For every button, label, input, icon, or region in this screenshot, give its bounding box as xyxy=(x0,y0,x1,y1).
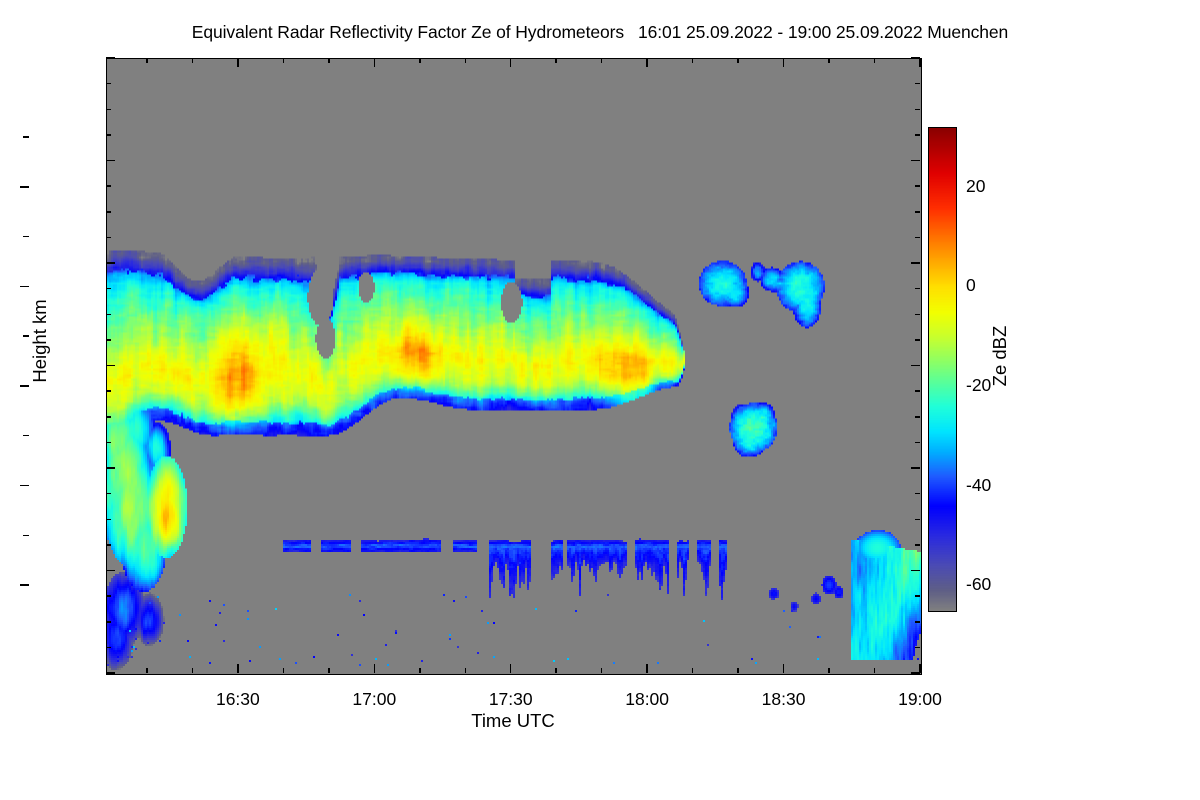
y-axis-title: Height km xyxy=(29,241,51,441)
y-tick-minor-right xyxy=(915,109,920,111)
y-tick-major-right xyxy=(911,570,920,572)
colorbar-tick-minor xyxy=(23,136,29,138)
x-tick-minor xyxy=(692,668,694,673)
y-tick-major-right xyxy=(911,365,920,367)
y-tick-minor-right xyxy=(915,390,920,392)
y-tick-major xyxy=(106,570,115,572)
y-tick-minor xyxy=(106,314,111,316)
y-tick-major-right xyxy=(911,262,920,264)
x-tick-major xyxy=(783,664,785,673)
y-tick-major xyxy=(106,160,115,162)
x-tick-major-top xyxy=(646,58,648,67)
y-tick-minor-right xyxy=(915,185,920,187)
x-tick-minor-top xyxy=(874,58,876,63)
y-tick-minor-right xyxy=(915,211,920,213)
colorbar-tick-major xyxy=(20,485,29,487)
x-tick-major-top xyxy=(919,58,921,67)
y-tick-minor xyxy=(106,647,111,649)
y-tick-major xyxy=(106,262,115,264)
x-tick-minor-top xyxy=(146,58,148,63)
x-tick-minor-top xyxy=(192,58,194,63)
colorbar-tick-major xyxy=(20,286,29,288)
y-tick-minor xyxy=(106,134,111,136)
y-tick-minor xyxy=(106,390,111,392)
x-tick-major xyxy=(510,664,512,673)
y-tick-major xyxy=(106,365,115,367)
x-tick-minor-top xyxy=(828,58,830,63)
y-tick-minor-right xyxy=(915,134,920,136)
x-tick-minor xyxy=(419,668,421,673)
x-tick-label: 19:00 xyxy=(860,689,980,710)
colorbar-tick-minor xyxy=(23,535,29,537)
x-tick-minor-top xyxy=(419,58,421,63)
x-tick-major xyxy=(646,664,648,673)
x-tick-label: 17:30 xyxy=(451,689,571,710)
y-tick-major-right xyxy=(911,467,920,469)
y-tick-minor xyxy=(106,83,111,85)
colorbar-gradient xyxy=(929,128,956,611)
y-tick-minor-right xyxy=(915,647,920,649)
x-tick-minor xyxy=(601,668,603,673)
y-tick-minor xyxy=(106,288,111,290)
x-tick-major-top xyxy=(237,58,239,67)
y-tick-minor xyxy=(106,544,111,546)
radar-reflectivity-heatmap xyxy=(107,59,921,674)
colorbar-tick-major xyxy=(20,385,29,387)
colorbar-tick-minor xyxy=(23,236,29,238)
title-main: Equivalent Radar Reflectivity Factor Ze … xyxy=(192,22,624,42)
x-tick-minor xyxy=(555,668,557,673)
y-tick-minor-right xyxy=(915,595,920,597)
x-tick-minor-top xyxy=(692,58,694,63)
y-tick-major xyxy=(106,467,115,469)
y-tick-major xyxy=(106,672,115,674)
y-tick-major xyxy=(106,57,115,59)
colorbar-tick-label: 20 xyxy=(966,176,985,197)
x-tick-label: 17:00 xyxy=(314,689,434,710)
colorbar-tick-minor xyxy=(23,435,29,437)
y-tick-minor xyxy=(106,339,111,341)
y-tick-minor-right xyxy=(915,621,920,623)
y-tick-minor-right xyxy=(915,519,920,521)
y-tick-minor-right xyxy=(915,339,920,341)
page-title: Equivalent Radar Reflectivity Factor Ze … xyxy=(0,22,1200,43)
colorbar-tick-major xyxy=(20,186,29,188)
y-tick-minor-right xyxy=(915,237,920,239)
x-tick-minor xyxy=(465,668,467,673)
x-tick-minor xyxy=(328,668,330,673)
colorbar-tick-major xyxy=(20,584,29,586)
x-tick-minor xyxy=(737,668,739,673)
x-tick-minor-top xyxy=(737,58,739,63)
y-tick-minor xyxy=(106,185,111,187)
x-tick-major-top xyxy=(510,58,512,67)
colorbar-tick-minor xyxy=(23,335,29,337)
y-tick-minor xyxy=(106,442,111,444)
y-tick-minor-right xyxy=(915,493,920,495)
y-tick-minor xyxy=(106,493,111,495)
x-tick-minor xyxy=(828,668,830,673)
x-tick-major xyxy=(237,664,239,673)
x-tick-minor xyxy=(283,668,285,673)
title-period: 16:01 25.09.2022 - 19:00 25.09.2022 Muen… xyxy=(638,22,1008,42)
y-tick-minor xyxy=(106,237,111,239)
y-tick-minor xyxy=(106,621,111,623)
colorbar xyxy=(928,127,957,612)
colorbar-tick-label: -60 xyxy=(966,574,991,595)
x-axis-title: Time UTC xyxy=(106,710,920,732)
x-tick-label: 18:30 xyxy=(724,689,844,710)
y-tick-minor-right xyxy=(915,83,920,85)
colorbar-tick-label: -40 xyxy=(966,475,991,496)
x-tick-minor xyxy=(192,668,194,673)
x-tick-minor-top xyxy=(465,58,467,63)
y-tick-minor-right xyxy=(915,416,920,418)
x-tick-minor-top xyxy=(601,58,603,63)
x-tick-label: 16:30 xyxy=(178,689,298,710)
x-tick-major-top xyxy=(374,58,376,67)
x-tick-major xyxy=(374,664,376,673)
colorbar-tick-label: -20 xyxy=(966,375,991,396)
x-tick-label: 18:00 xyxy=(587,689,707,710)
x-tick-major-top xyxy=(783,58,785,67)
y-tick-minor xyxy=(106,519,111,521)
x-tick-minor-top xyxy=(328,58,330,63)
y-tick-minor-right xyxy=(915,314,920,316)
y-tick-minor xyxy=(106,211,111,213)
colorbar-title: Ze dBZ xyxy=(989,276,1011,436)
y-tick-minor xyxy=(106,109,111,111)
x-tick-minor xyxy=(874,668,876,673)
radar-figure: Equivalent Radar Reflectivity Factor Ze … xyxy=(0,0,1200,800)
x-tick-minor xyxy=(146,668,148,673)
y-tick-minor-right xyxy=(915,288,920,290)
y-tick-minor xyxy=(106,416,111,418)
x-tick-minor-top xyxy=(283,58,285,63)
y-tick-minor xyxy=(106,595,111,597)
x-tick-minor-top xyxy=(555,58,557,63)
y-tick-minor-right xyxy=(915,544,920,546)
x-tick-major xyxy=(919,664,921,673)
colorbar-tick-label: 0 xyxy=(966,275,976,296)
plot-area xyxy=(106,58,922,675)
y-tick-major-right xyxy=(911,160,920,162)
y-tick-minor-right xyxy=(915,442,920,444)
